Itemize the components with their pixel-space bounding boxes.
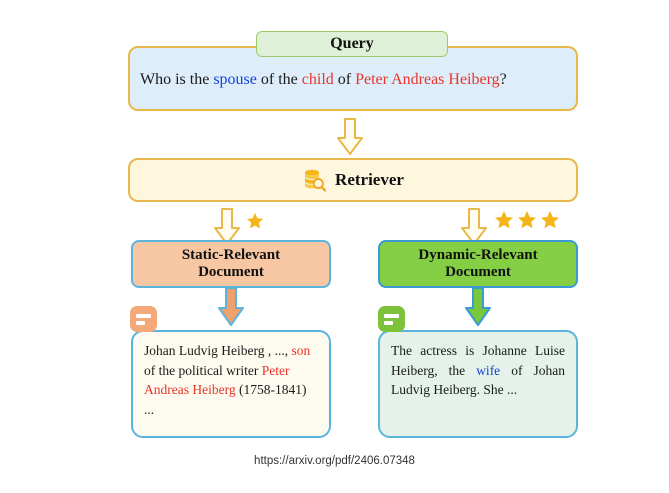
static-snippet-segment-2: of the political writer: [144, 363, 262, 378]
database-search-icon: [302, 168, 326, 192]
dynamic-doc-title-line1: Dynamic-Relevant: [418, 247, 537, 264]
dynamic-doc-title-line2: Document: [445, 264, 511, 281]
dynamic-snippet-keyword-wife: wife: [476, 363, 500, 378]
source-url-caption: https://arxiv.org/pdf/2406.07348: [0, 455, 669, 467]
static-doc-title-line2: Document: [198, 264, 264, 281]
retriever-label: Retriever: [335, 170, 404, 190]
document-lines-icon: [130, 306, 157, 332]
document-lines-icon: [378, 306, 405, 332]
static-doc-title-line1: Static-Relevant: [182, 247, 280, 264]
static-document-snippet: Johan Ludvig Heiberg , ..., son of the p…: [131, 330, 331, 438]
dynamic-snippet-text: The actress is Johanne Luise Heiberg, th…: [380, 332, 576, 400]
query-entity-peter-andreas-heiberg: Peter Andreas Heiberg: [355, 71, 500, 88]
query-text: Who is the spouse of the child of Peter …: [140, 70, 570, 89]
query-keyword-spouse: spouse: [213, 71, 257, 88]
retriever-panel: Retriever: [128, 158, 578, 202]
dynamic-relevant-document-header: Dynamic-Relevant Document: [378, 240, 578, 288]
static-relevant-document-header: Static-Relevant Document: [131, 240, 331, 288]
dynamic-relevance-stars: [494, 210, 560, 235]
static-snippet-text: Johan Ludvig Heiberg , ..., son of the p…: [133, 332, 329, 419]
query-label-badge: Query: [256, 31, 448, 57]
query-segment-2: of the: [257, 71, 302, 88]
query-label-text: Query: [330, 35, 374, 53]
query-segment-0: Who is the: [140, 71, 213, 88]
query-keyword-child: child: [302, 71, 334, 88]
query-segment-4: of: [334, 71, 355, 88]
star-icon: [517, 210, 537, 235]
arrow-down-outline-icon: [337, 118, 363, 156]
star-icon: [494, 210, 514, 235]
static-relevance-stars: [246, 212, 264, 235]
star-icon: [246, 212, 264, 235]
static-snippet-keyword-son: son: [291, 343, 310, 358]
static-snippet-segment-0: Johan Ludvig Heiberg , ...,: [144, 343, 291, 358]
dynamic-document-snippet: The actress is Johanne Luise Heiberg, th…: [378, 330, 578, 438]
arrow-down-solid-icon: [217, 288, 245, 326]
query-segment-6: ?: [500, 71, 507, 88]
star-icon: [540, 210, 560, 235]
arrow-down-solid-icon: [464, 288, 492, 326]
